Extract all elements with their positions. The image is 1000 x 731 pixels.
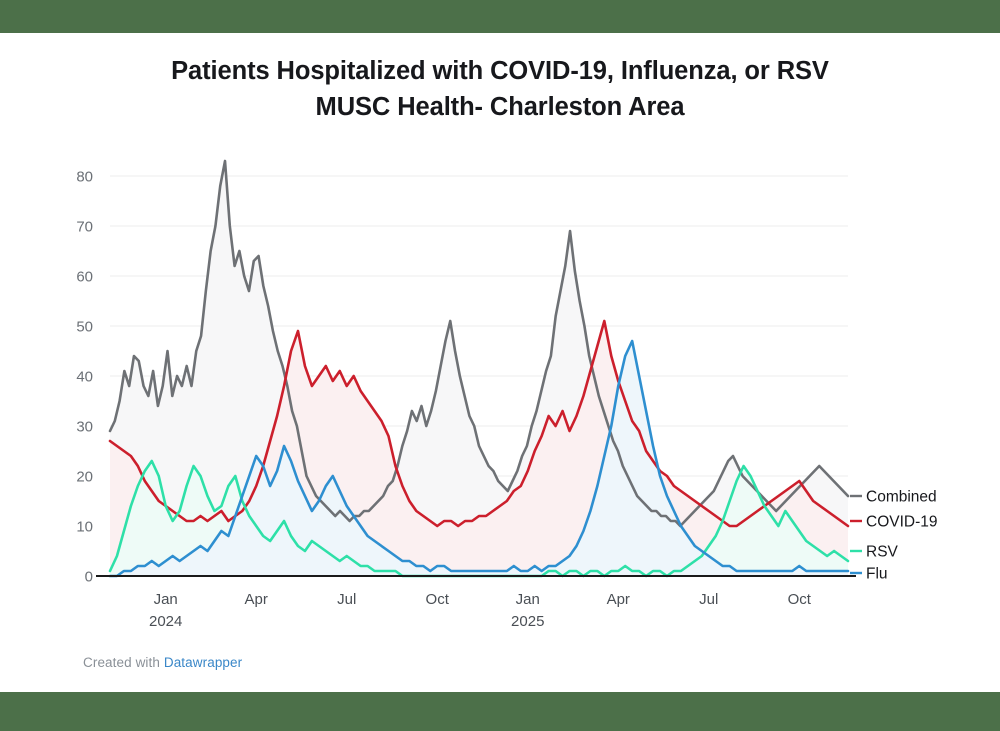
y-tick-label-80: 80: [76, 169, 93, 186]
series-inline-legend: CombinedCOVID-19RSVFlu: [850, 489, 938, 583]
x-tick-year-0: 2024: [149, 613, 182, 630]
y-tick-label-20: 20: [76, 469, 93, 486]
y-tick-label-30: 30: [76, 419, 93, 436]
line-chart-svg: 01020304050607080 Jan2024AprJulOctJan202…: [0, 33, 1000, 692]
y-tick-label-70: 70: [76, 219, 93, 236]
y-tick-label-50: 50: [76, 319, 93, 336]
x-tick-label-0: Jan: [154, 591, 178, 608]
chart-footer: Created with Datawrapper: [83, 655, 242, 670]
x-axis-tick-labels: Jan2024AprJulOctJan2025AprJulOct: [149, 591, 812, 630]
y-tick-label-60: 60: [76, 269, 93, 286]
x-tick-label-7: Oct: [788, 591, 812, 608]
footer-prefix: Created with: [83, 655, 164, 670]
legend-label-flu: Flu: [866, 566, 888, 583]
bottom-green-band: [0, 692, 1000, 731]
x-tick-label-2: Jul: [337, 591, 356, 608]
y-tick-label-10: 10: [76, 519, 93, 536]
chart-page: Patients Hospitalized with COVID-19, Inf…: [0, 0, 1000, 731]
y-tick-label-40: 40: [76, 369, 93, 386]
legend-label-combined: Combined: [866, 489, 937, 506]
x-tick-year-4: 2025: [511, 613, 544, 630]
datawrapper-link[interactable]: Datawrapper: [164, 655, 242, 670]
legend-label-rsv: RSV: [866, 544, 899, 561]
y-tick-label-0: 0: [85, 569, 93, 586]
chart-card: Patients Hospitalized with COVID-19, Inf…: [0, 33, 1000, 692]
x-tick-label-6: Jul: [699, 591, 718, 608]
x-tick-label-4: Jan: [516, 591, 540, 608]
x-tick-label-1: Apr: [245, 591, 268, 608]
x-tick-label-5: Apr: [607, 591, 630, 608]
plot-area: 01020304050607080 Jan2024AprJulOctJan202…: [0, 33, 1000, 692]
series-area-fills: [110, 161, 848, 576]
y-axis-tick-labels: 01020304050607080: [76, 169, 93, 586]
x-tick-label-3: Oct: [426, 591, 450, 608]
top-green-band: [0, 0, 1000, 33]
legend-label-covid-19: COVID-19: [866, 514, 938, 531]
